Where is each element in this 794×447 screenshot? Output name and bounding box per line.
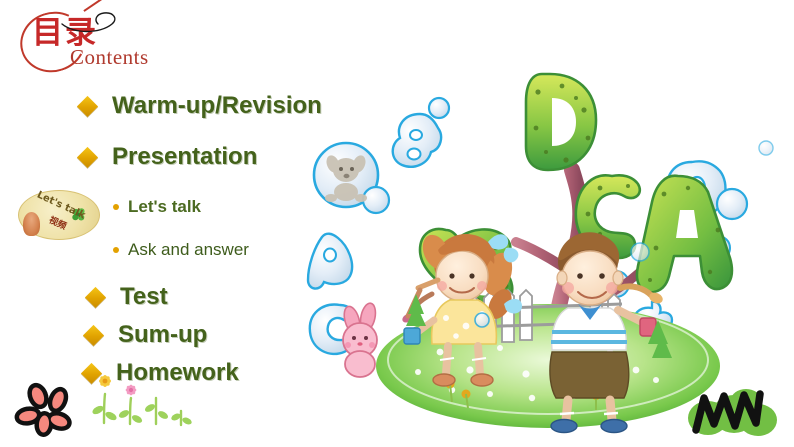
menu-item-warm-up[interactable]: Warm-up/Revision <box>80 92 322 120</box>
pink-rabbit-icon <box>341 302 377 377</box>
menu-subitem-ask-and-answer[interactable]: Ask and answer <box>113 240 249 260</box>
bubble-letter-A <box>308 234 352 289</box>
diamond-bullet-icon <box>85 286 106 307</box>
menu-subitem-lets-talk[interactable]: Let's talk <box>113 197 201 217</box>
yellow-flower-icon <box>99 375 112 388</box>
title-english: Contents <box>70 45 149 70</box>
dot-bullet-icon <box>113 247 119 253</box>
menu-item-test[interactable]: Test <box>88 283 168 311</box>
mini-flowers-decoration-icon <box>86 368 196 428</box>
slide-canvas: 目录 Contents Warm-up/Revision Presentatio… <box>0 0 794 447</box>
dot-bullet-icon <box>113 204 119 210</box>
pink-flower-small-icon <box>125 384 136 395</box>
diamond-bullet-icon <box>77 95 98 116</box>
menu-item-label: Test <box>120 283 168 311</box>
menu-item-sum-up[interactable]: Sum-up <box>86 321 207 349</box>
menu-item-label: Presentation <box>112 143 257 171</box>
menu-item-label: Sum-up <box>118 321 207 349</box>
diamond-bullet-icon <box>83 324 104 345</box>
menu-subitem-label: Ask and answer <box>128 240 249 260</box>
menu-item-presentation[interactable]: Presentation <box>80 143 257 171</box>
leafy-letter-D <box>526 74 596 170</box>
classroom-scene-illustration <box>300 52 794 447</box>
menu-item-label: Warm-up/Revision <box>112 92 322 120</box>
dog-in-bubble-icon <box>314 143 389 213</box>
diamond-bullet-icon <box>77 146 98 167</box>
bubble-letter-B <box>393 98 449 167</box>
badge-leader-line <box>60 8 130 36</box>
lets-talk-video-badge[interactable]: Let's talk 视频 <box>18 190 100 240</box>
badge-figure-icon <box>23 212 40 236</box>
pink-flower-decoration-icon <box>14 382 80 442</box>
menu-subitem-label: Let's talk <box>128 197 201 217</box>
